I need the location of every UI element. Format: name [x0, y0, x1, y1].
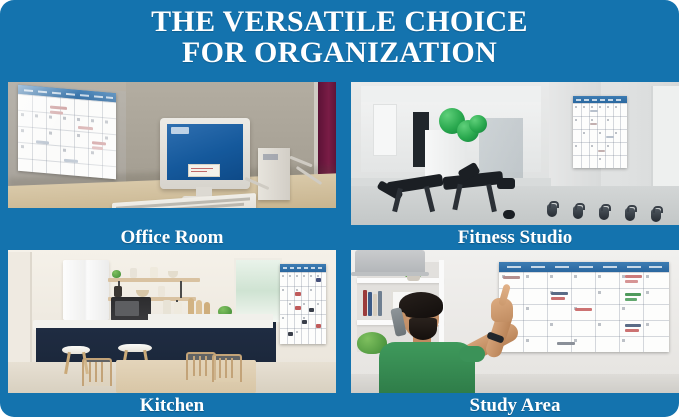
calendar-note [302, 320, 307, 324]
office-scene [8, 82, 336, 225]
calendar-note [625, 298, 637, 301]
photo-bottom-trim [8, 208, 336, 225]
book [368, 292, 372, 316]
calendar-note [625, 329, 639, 332]
kettlebell [599, 207, 609, 220]
study-scene [351, 250, 679, 393]
calendar-note [316, 278, 321, 282]
card-study-area: Study Area [351, 250, 679, 417]
office-wall-calendar [18, 85, 116, 180]
photo-study-area [351, 250, 679, 393]
calendar-note [295, 292, 301, 296]
calendar-note [625, 324, 641, 327]
card-caption-study-area: Study Area [351, 393, 679, 417]
calendar-glare [18, 85, 116, 180]
page-title: THE VERSATILE CHOICE FOR ORGANIZATION [0, 6, 679, 68]
calendar-note [590, 110, 598, 112]
calendar-note [557, 342, 575, 345]
photo-fitness-studio [351, 82, 679, 225]
bench-pad [497, 178, 515, 189]
calendar-header [573, 96, 627, 103]
dining-chair [82, 358, 108, 393]
calendar-note [598, 150, 605, 152]
monitor-logo [171, 127, 189, 134]
gym-scene [351, 82, 679, 225]
kettlebell [651, 209, 661, 222]
calendar-note [590, 123, 597, 125]
calendar-header [280, 264, 326, 272]
title-line-2: FOR ORGANIZATION [0, 37, 679, 68]
calendar-header [499, 262, 669, 272]
shelf-jar [150, 267, 158, 278]
calendar-note [606, 136, 614, 138]
dining-chair [212, 354, 238, 393]
shelf-jar [130, 268, 137, 278]
laptop [351, 250, 429, 276]
gym-back-door [373, 104, 397, 156]
calendar-note [625, 275, 642, 278]
card-caption-kitchen: Kitchen [8, 393, 336, 417]
book [363, 290, 367, 316]
feature-grid: Office Room [8, 82, 671, 412]
kitchen-door [8, 252, 32, 372]
refrigerator [63, 260, 109, 320]
poster: THE VERSATILE CHOICE FOR ORGANIZATION [0, 0, 679, 417]
bench-foot-roller [503, 210, 515, 219]
microwave [111, 297, 151, 321]
book [373, 294, 377, 316]
calendar-note [316, 324, 321, 328]
kitchen-scene [8, 250, 336, 393]
calendar-note [503, 276, 520, 279]
card-caption-fitness-studio: Fitness Studio [351, 225, 679, 250]
card-fitness-studio: Fitness Studio [351, 82, 679, 250]
photo-kitchen [8, 250, 336, 393]
gym-wall-calendar [573, 96, 627, 168]
calendar-note [625, 280, 638, 283]
exercise-ball [469, 115, 487, 133]
person-beard [409, 318, 437, 340]
book [378, 291, 382, 316]
calendar-note [288, 332, 293, 336]
shelf-jar [158, 286, 165, 297]
calendar-note [295, 306, 301, 310]
calendar-note [575, 308, 592, 311]
kitchen-wall-calendar [280, 264, 326, 344]
calendar-note [551, 297, 565, 300]
kettlebell [625, 208, 635, 221]
upper-shelf [357, 278, 443, 283]
gym-ceiling [361, 86, 541, 102]
title-line-1: THE VERSATILE CHOICE [151, 5, 528, 38]
dining-chair [186, 352, 212, 393]
shelf-jar [114, 286, 122, 297]
shelf-plant [112, 270, 121, 278]
shelf-bracket [180, 281, 182, 298]
study-wall-calendar [499, 262, 669, 352]
sticky-note [188, 164, 220, 177]
card-kitchen: Kitchen [8, 250, 336, 417]
card-office-room: Office Room [8, 82, 336, 250]
calendar-note [309, 308, 314, 312]
computer-tower [258, 148, 290, 200]
calendar-note [625, 293, 641, 296]
kettlebell [573, 206, 583, 219]
calendar-note [551, 292, 568, 295]
wall-shelf [108, 278, 200, 282]
kettlebell [547, 204, 557, 217]
card-caption-office-room: Office Room [8, 225, 336, 250]
person-shoulder [459, 346, 485, 362]
photo-office-room [8, 82, 336, 225]
